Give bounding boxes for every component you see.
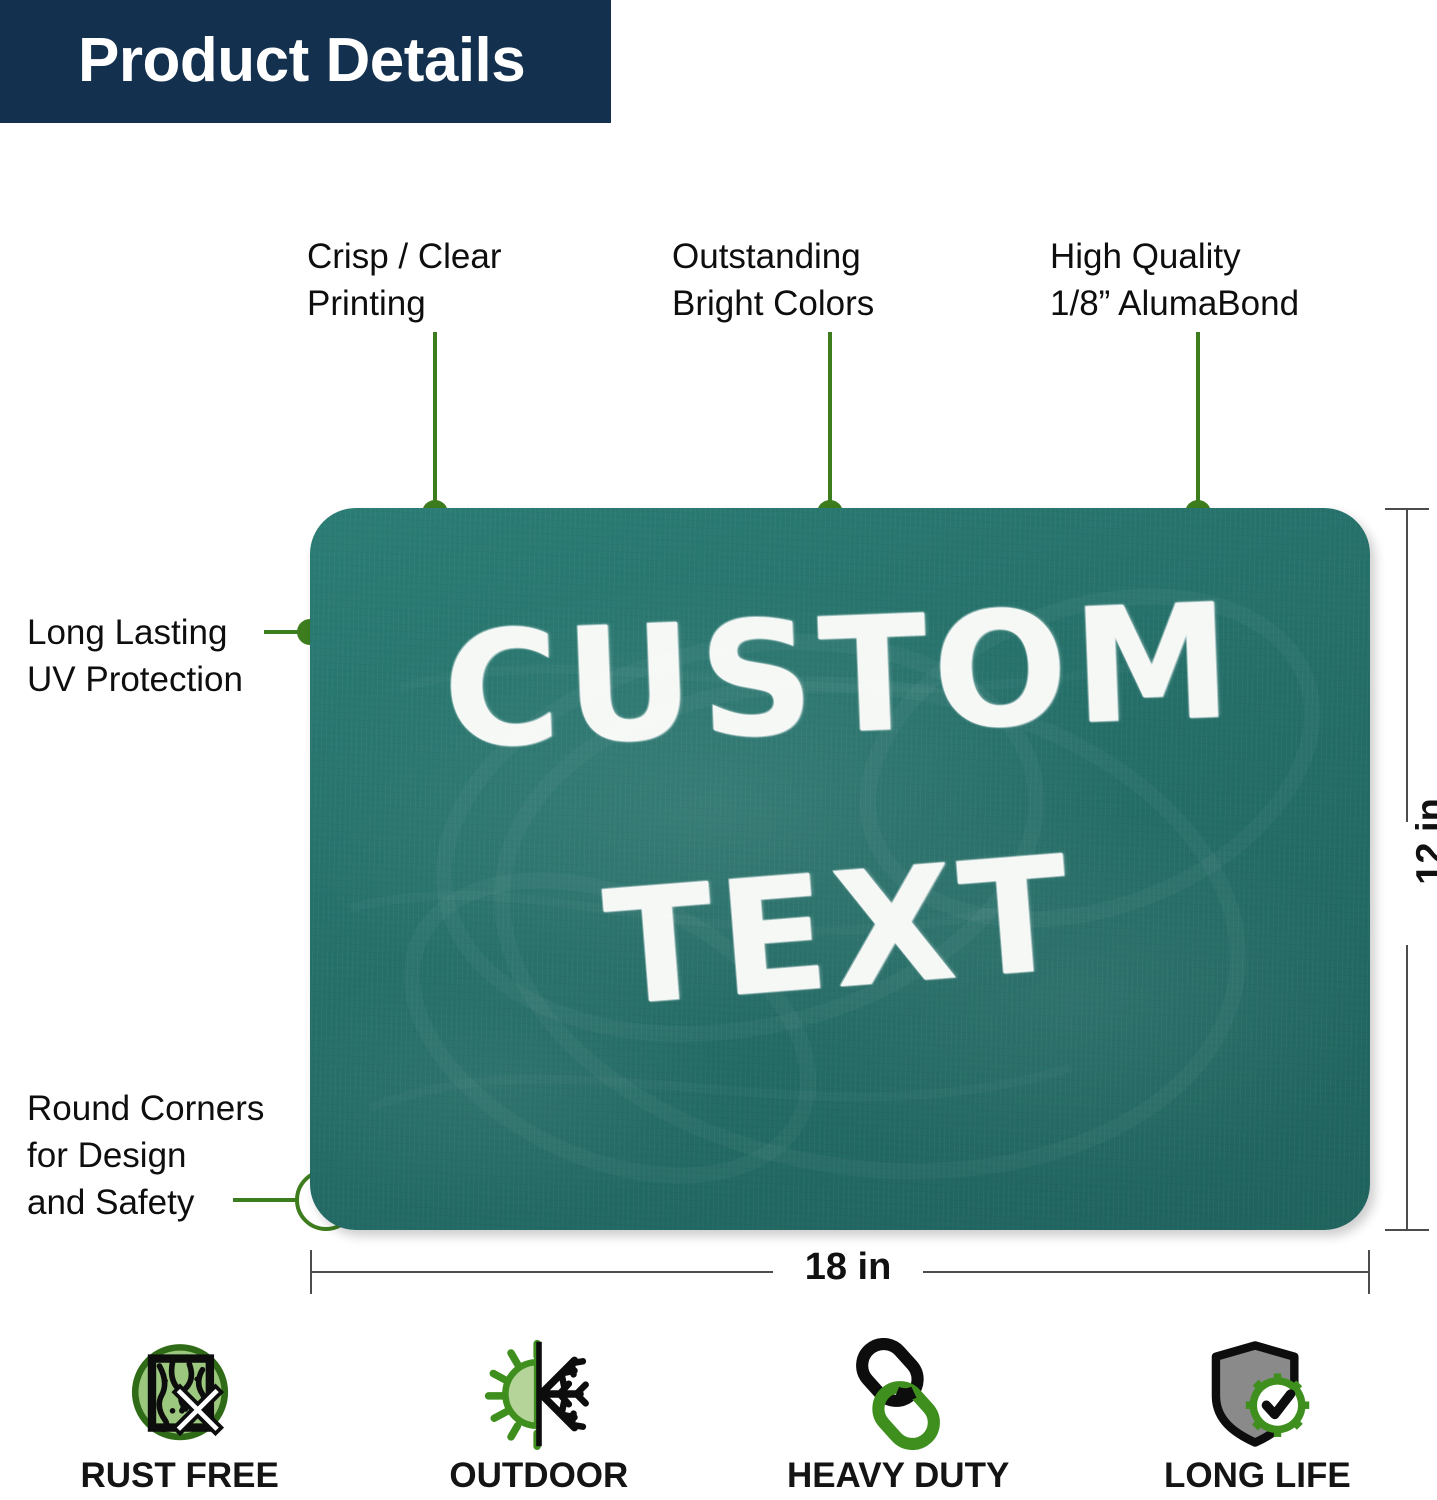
dimension-line-height-upper (1406, 508, 1408, 822)
rust-free-icon (118, 1338, 242, 1450)
dimension-line-width-right (923, 1271, 1370, 1273)
callout-label-crisp-printing: Crisp / Clear Printing (307, 233, 501, 327)
feature-badges: RUST FREE (0, 1338, 1437, 1500)
chain-link-icon (836, 1338, 960, 1450)
feature-heavy-duty: HEAVY DUTY (719, 1338, 1078, 1496)
chalk-line-custom: CUSTOM (310, 578, 1370, 777)
feature-label-heavy-duty: HEAVY DUTY (787, 1456, 1009, 1496)
dimension-label-width: 18 in (773, 1246, 923, 1289)
feature-label-rust-free: RUST FREE (80, 1456, 278, 1496)
dimension-line-height-lower (1406, 945, 1408, 1230)
feature-outdoor: OUTDOOR (359, 1338, 718, 1496)
callout-label-alumabond: High Quality 1/8” AlumaBond (1050, 233, 1299, 327)
shield-clock-check-icon (1195, 1338, 1319, 1450)
product-sign-chalkboard: CUSTOM TEXT (310, 508, 1370, 1230)
sun-snowflake-icon (477, 1338, 601, 1450)
callout-label-uv-protection: Long Lasting UV Protection (27, 609, 243, 703)
callout-label-round-corners: Round Corners for Design and Safety (27, 1085, 264, 1226)
feature-rust-free: RUST FREE (0, 1338, 359, 1496)
leader-line-round-corners (233, 1198, 299, 1202)
leader-line-bright-colors (828, 332, 832, 514)
dimension-label-height: 12 in (1410, 782, 1437, 902)
leader-line-crisp-printing (433, 332, 437, 514)
product-details-infographic: Product Details Crisp / Clear Printing O… (0, 0, 1437, 1500)
chalk-line-text: TEXT (310, 812, 1370, 1053)
leader-line-alumabond (1196, 332, 1200, 514)
feature-long-life: LONG LIFE (1078, 1338, 1437, 1496)
dimension-line-width-left (310, 1271, 773, 1273)
feature-label-long-life: LONG LIFE (1164, 1456, 1351, 1496)
feature-label-outdoor: OUTDOOR (449, 1456, 628, 1496)
callout-label-bright-colors: Outstanding Bright Colors (672, 233, 874, 327)
header-banner: Product Details (0, 0, 611, 123)
chalk-text-block: CUSTOM TEXT (310, 508, 1370, 1230)
page-title: Product Details (78, 22, 525, 100)
